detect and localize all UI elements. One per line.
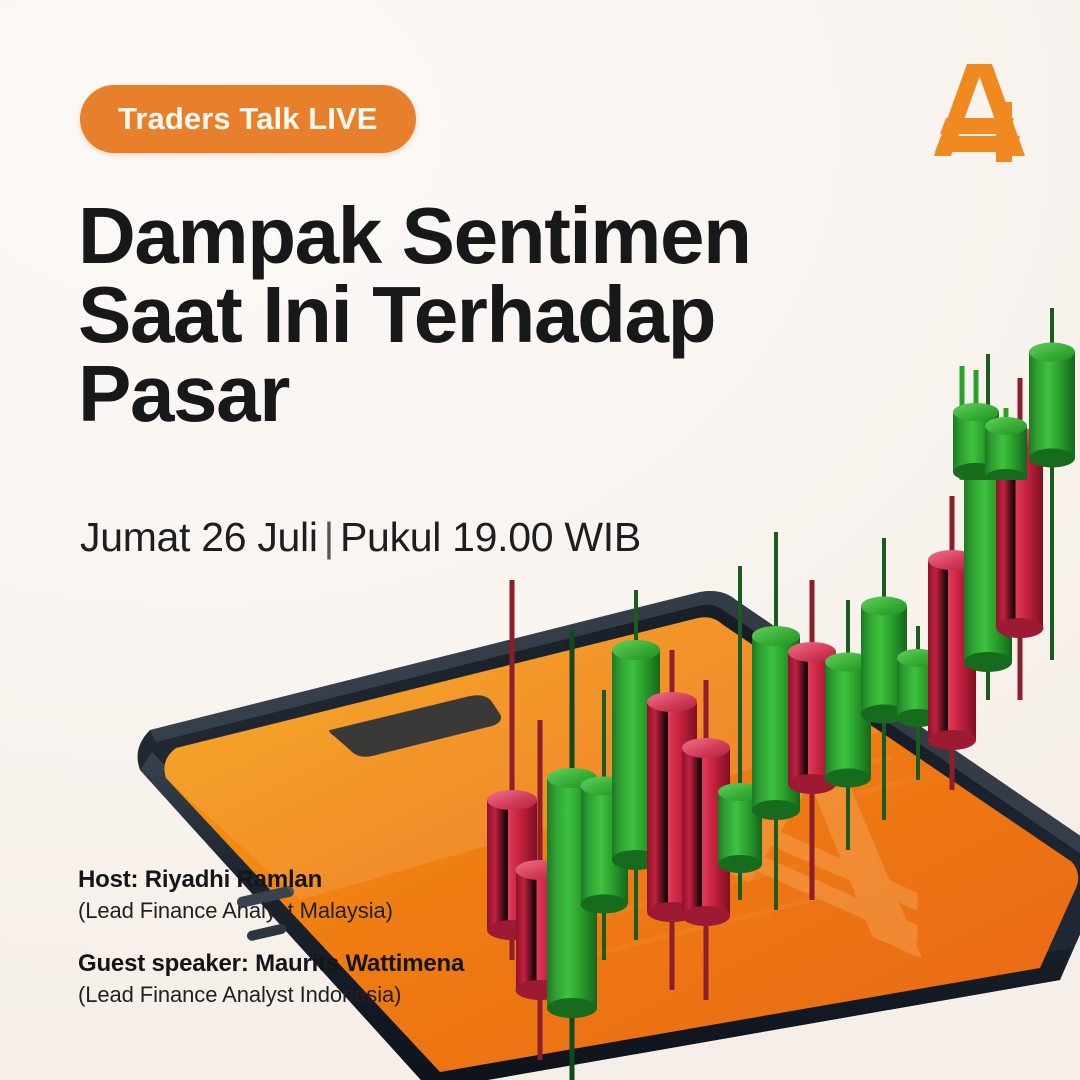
live-badge[interactable]: Traders Talk LIVE [80, 85, 416, 153]
datetime-separator: | [318, 514, 340, 560]
brand-a-logo-icon [928, 58, 1032, 162]
guest-name: Guest speaker: Maurits Wattimena [78, 950, 464, 978]
live-badge-label: Traders Talk LIVE [118, 101, 378, 137]
event-date: Jumat 26 Juli [80, 514, 318, 560]
credit-host: Host: Riyadhi Ramlan (Lead Finance Analy… [78, 866, 464, 924]
host-role: (Lead Finance Analyst Malaysia) [78, 898, 464, 924]
host-name: Host: Riyadhi Ramlan [78, 866, 464, 894]
headline-line-1: Dampak Sentimen [78, 196, 808, 275]
page-title: Dampak Sentimen Saat Ini Terhadap Pasar [78, 196, 808, 434]
headline-line-3: Pasar [78, 354, 808, 433]
headline-line-2: Saat Ini Terhadap [78, 275, 808, 354]
credit-guest: Guest speaker: Maurits Wattimena (Lead F… [78, 950, 464, 1008]
event-datetime: Jumat 26 Juli|Pukul 19.00 WIB [80, 514, 641, 561]
guest-role: (Lead Finance Analyst Indonesia) [78, 982, 464, 1008]
speaker-credits: Host: Riyadhi Ramlan (Lead Finance Analy… [78, 866, 464, 1034]
poster-canvas: Traders Talk LIVE Dampak Sentimen Saat I… [0, 0, 1080, 1080]
event-time: Pukul 19.00 WIB [340, 514, 641, 560]
brand-a-logo [928, 58, 1032, 162]
